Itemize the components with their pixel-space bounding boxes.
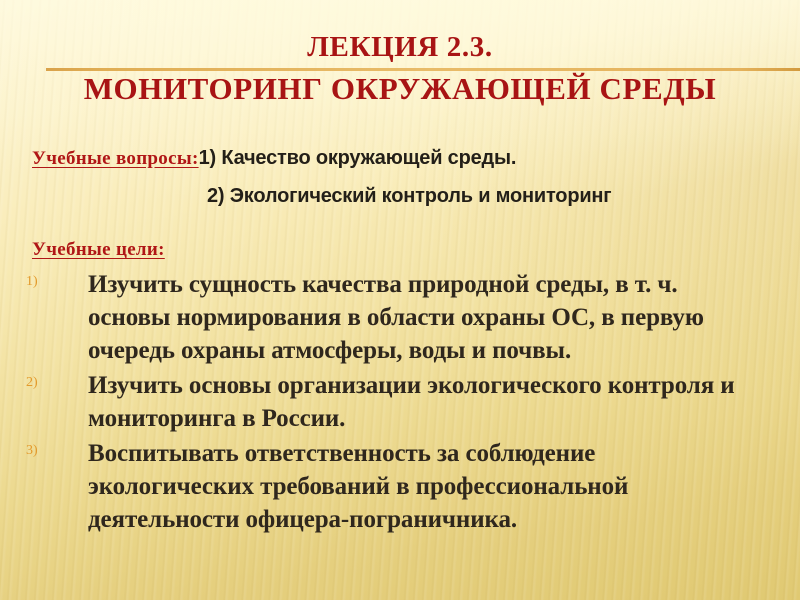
study-questions-row-2: 2) Экологический контроль и мониторинг bbox=[32, 178, 772, 216]
presentation-slide: Лекция 2.3. Мониторинг окружающей среды … bbox=[0, 0, 800, 600]
study-question-item-1: 1) Качество окружающей среды. bbox=[199, 147, 517, 169]
list-item-marker: 1) bbox=[26, 274, 66, 290]
list-item-text: Изучить сущность качества природной сред… bbox=[88, 268, 760, 367]
list-item-marker: 3) bbox=[26, 443, 66, 459]
slide-content: Лекция 2.3. Мониторинг окружающей среды … bbox=[0, 0, 800, 600]
list-item: 2) Изучить основы организации экологичес… bbox=[0, 369, 800, 435]
list-item-text: Воспитывать ответственность за соблюдени… bbox=[88, 437, 760, 536]
title-line-1: Лекция 2.3. bbox=[0, 26, 800, 68]
list-item-text: Изучить основы организации экологическог… bbox=[88, 369, 760, 435]
title-line-2: Мониторинг окружающей среды bbox=[0, 68, 800, 110]
slide-title: Лекция 2.3. Мониторинг окружающей среды bbox=[0, 26, 800, 110]
list-item: 1) Изучить сущность качества природной с… bbox=[0, 268, 800, 367]
study-questions-row-1: Учебные вопросы:1) Качество окружающей с… bbox=[32, 140, 772, 178]
study-goals-list: 1) Изучить сущность качества природной с… bbox=[0, 268, 800, 538]
study-goals-label: Учебные цели: bbox=[32, 239, 165, 261]
list-item: 3) Воспитывать ответственность за соблюд… bbox=[0, 437, 800, 536]
study-questions-section: Учебные вопросы:1) Качество окружающей с… bbox=[32, 140, 772, 216]
study-question-item-2: 2) Экологический контроль и мониторинг bbox=[207, 185, 611, 207]
list-item-marker: 2) bbox=[26, 375, 66, 391]
study-questions-label: Учебные вопросы: bbox=[32, 148, 199, 169]
